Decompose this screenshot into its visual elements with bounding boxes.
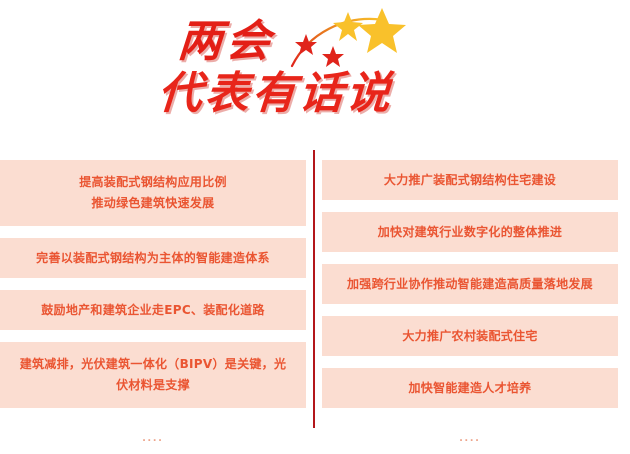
proposal-item-text: 鼓励地产和建筑企业走EPC、装配化道路	[41, 300, 265, 321]
proposal-item-text: 加强跨行业协作推动智能建造高质量落地发展	[347, 274, 593, 295]
proposal-item-text: 建筑减排，光伏建筑一体化（BIPV）是关键，光伏材料是支撑	[20, 354, 287, 396]
proposal-item-line: 建筑减排，光伏建筑一体化（BIPV）是关键，光	[20, 354, 287, 375]
proposal-item-line: 鼓励地产和建筑企业走EPC、装配化道路	[41, 300, 265, 321]
page-header: 两会 代表有话说	[0, 0, 630, 148]
proposal-item-line: 完善以装配式钢结构为主体的智能建造体系	[36, 248, 270, 269]
masthead-title-primary: 两会	[176, 20, 275, 64]
proposal-item-text: 大力推广装配式钢结构住宅建设	[384, 170, 556, 191]
proposal-item-line: 加快对建筑行业数字化的整体推进	[378, 222, 563, 243]
proposal-item-text: 提高装配式钢结构应用比例推动绿色建筑快速发展	[79, 172, 227, 214]
proposal-item[interactable]: 加快对建筑行业数字化的整体推进	[322, 212, 618, 252]
proposal-item-line: 伏材料是支撑	[20, 375, 287, 396]
masthead-title-secondary: 代表有话说	[156, 72, 394, 116]
more-items-ellipsis: ....	[322, 420, 618, 454]
proposal-item[interactable]: 加强跨行业协作推动智能建造高质量落地发展	[322, 264, 618, 304]
proposal-item-line: 加快智能建造人才培养	[408, 378, 531, 399]
column-divider	[313, 150, 315, 428]
proposal-item[interactable]: 提高装配式钢结构应用比例推动绿色建筑快速发展	[0, 160, 306, 226]
proposal-item[interactable]: 鼓励地产和建筑企业走EPC、装配化道路	[0, 290, 306, 330]
proposal-item-line: 加强跨行业协作推动智能建造高质量落地发展	[347, 274, 593, 295]
proposals-panel: 提高装配式钢结构应用比例推动绿色建筑快速发展完善以装配式钢结构为主体的智能建造体…	[0, 148, 630, 428]
proposal-item[interactable]: 大力推广农村装配式住宅	[322, 316, 618, 356]
proposal-item-line: 提高装配式钢结构应用比例	[79, 172, 227, 193]
proposal-item[interactable]: 大力推广装配式钢结构住宅建设	[322, 160, 618, 200]
proposal-item-line: 大力推广农村装配式住宅	[402, 326, 537, 347]
proposal-item-text: 大力推广农村装配式住宅	[402, 326, 537, 347]
masthead-logo: 两会 代表有话说	[0, 0, 630, 148]
proposal-item-text: 加快对建筑行业数字化的整体推进	[378, 222, 563, 243]
proposal-item[interactable]: 完善以装配式钢结构为主体的智能建造体系	[0, 238, 306, 278]
proposal-item[interactable]: 建筑减排，光伏建筑一体化（BIPV）是关键，光伏材料是支撑	[0, 342, 306, 408]
proposal-item[interactable]: 加快智能建造人才培养	[322, 368, 618, 408]
proposal-item-line: 大力推广装配式钢结构住宅建设	[384, 170, 556, 191]
proposal-item-line: 推动绿色建筑快速发展	[79, 193, 227, 214]
proposal-item-text: 完善以装配式钢结构为主体的智能建造体系	[36, 248, 270, 269]
proposal-item-text: 加快智能建造人才培养	[408, 378, 531, 399]
more-items-ellipsis: ....	[0, 420, 306, 454]
